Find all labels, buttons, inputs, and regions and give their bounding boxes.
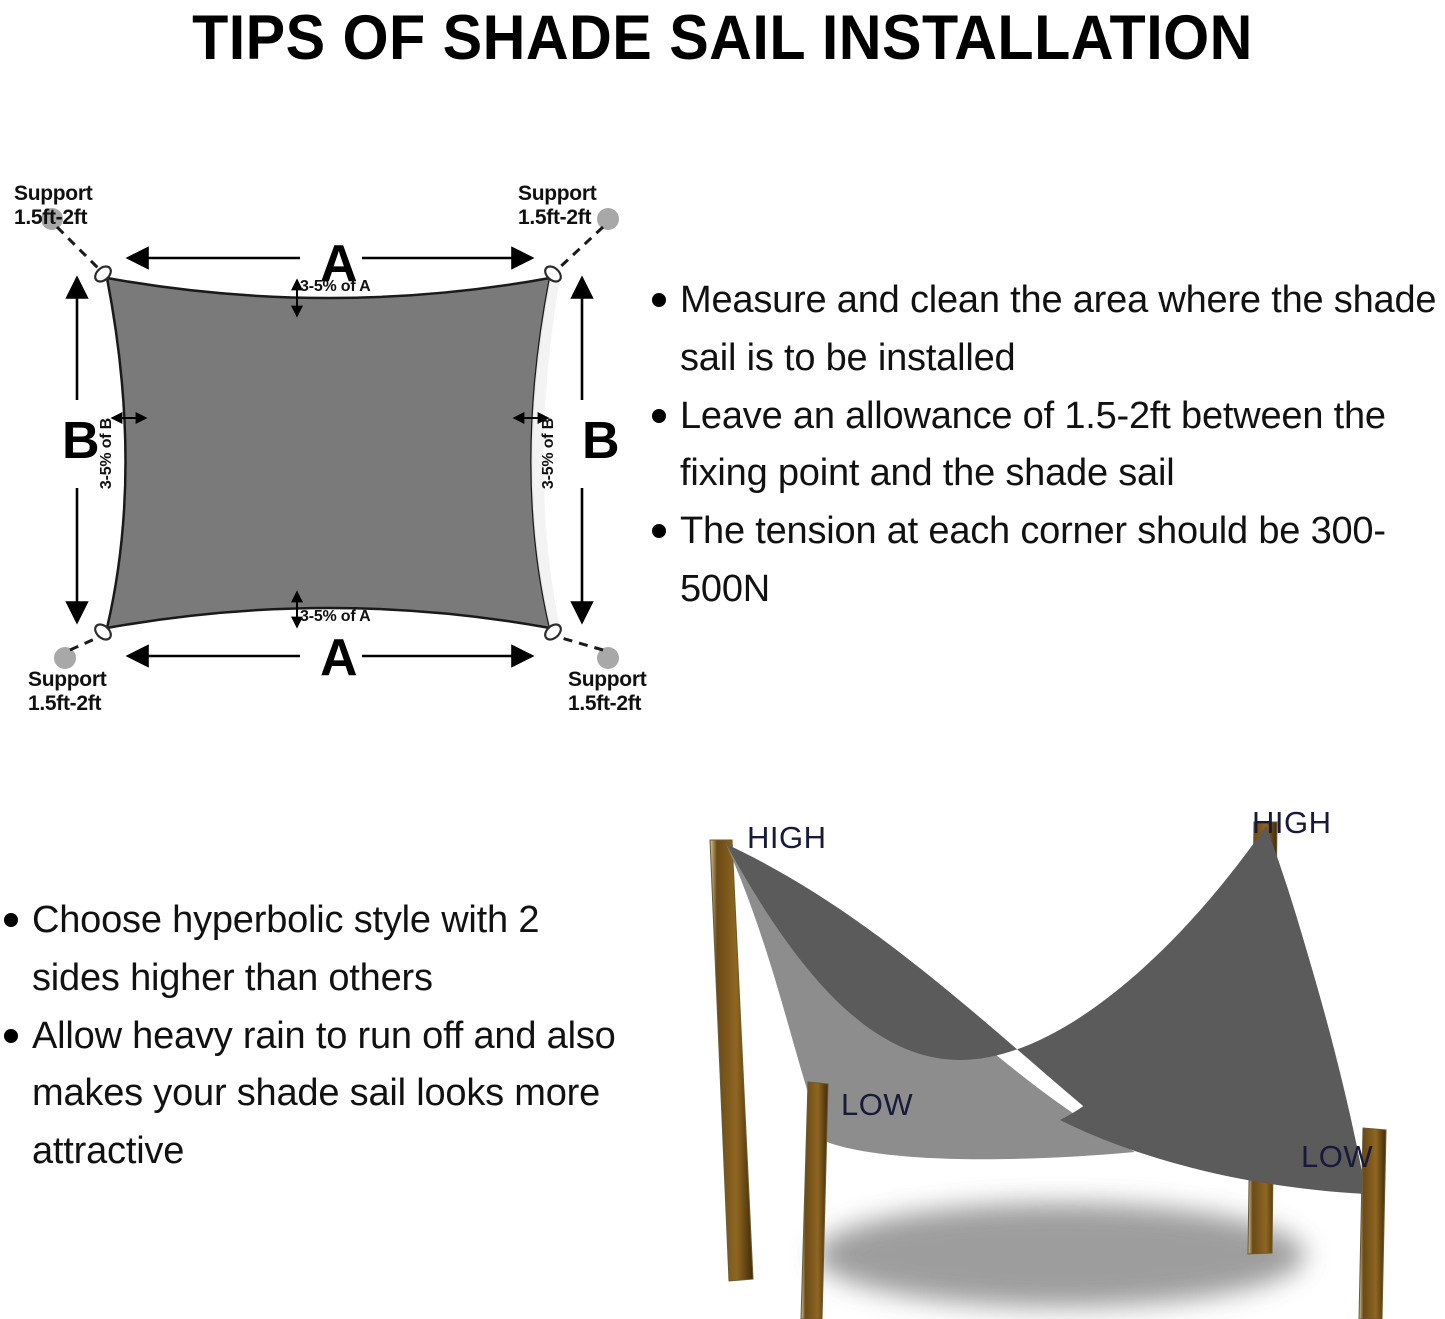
curvature-callout-bottom: 3-5% of A xyxy=(300,608,371,626)
support-label-line2: 1.5ft-2ft xyxy=(28,692,106,716)
bullet-dot-icon xyxy=(4,1029,18,1043)
ground-shadow xyxy=(815,1203,1305,1307)
support-label-line1: Support xyxy=(28,668,106,692)
dimension-label-A-bottom: A xyxy=(316,632,362,684)
label-low-left: LOW xyxy=(841,1087,913,1123)
dimension-label-B-right: B xyxy=(578,415,624,467)
tip-text: Choose hyperbolic style with 2 sides hig… xyxy=(32,892,622,1008)
page-title: TIPS OF SHADE SAIL INSTALLATION xyxy=(43,2,1401,74)
curvature-callout-left: 3-5% of B xyxy=(98,418,116,489)
installation-tips-list-right: Measure and clean the area where the sha… xyxy=(652,272,1445,619)
curvature-callout-top: 3-5% of A xyxy=(300,278,371,296)
list-item: Measure and clean the area where the sha… xyxy=(652,272,1445,388)
infographic-page: TIPS OF SHADE SAIL INSTALLATION xyxy=(0,0,1445,1319)
tip-text: Measure and clean the area where the sha… xyxy=(680,272,1445,388)
bullet-dot-icon xyxy=(652,409,666,423)
support-label-top-right: Support 1.5ft-2ft xyxy=(518,182,596,229)
tip-text: Leave an allowance of 1.5-2ft between th… xyxy=(680,388,1445,504)
post-low-left xyxy=(801,1082,828,1319)
bullet-dot-icon xyxy=(652,293,666,307)
label-high-right: HIGH xyxy=(1252,805,1332,841)
list-item: Choose hyperbolic style with 2 sides hig… xyxy=(4,892,622,1008)
list-item: Leave an allowance of 1.5-2ft between th… xyxy=(652,388,1445,504)
label-high-left: HIGH xyxy=(747,820,827,856)
support-label-top-left: Support 1.5ft-2ft xyxy=(14,182,92,229)
tip-text: The tension at each corner should be 300… xyxy=(680,503,1445,619)
support-label-line1: Support xyxy=(14,182,92,206)
list-item: The tension at each corner should be 300… xyxy=(652,503,1445,619)
sail-shape xyxy=(107,278,550,628)
curvature-callout-right: 3-5% of B xyxy=(540,418,558,489)
installation-tips-list-left: Choose hyperbolic style with 2 sides hig… xyxy=(4,892,622,1181)
support-label-line2: 1.5ft-2ft xyxy=(568,692,646,716)
dimension-label-B-left: B xyxy=(58,415,104,467)
list-item: Allow heavy rain to run off and also mak… xyxy=(4,1008,622,1181)
post-high-left xyxy=(710,840,753,1281)
bullet-dot-icon xyxy=(4,913,18,927)
support-label-line2: 1.5ft-2ft xyxy=(14,206,92,230)
bullet-dot-icon xyxy=(652,524,666,538)
support-label-bottom-right: Support 1.5ft-2ft xyxy=(568,668,646,715)
support-label-line1: Support xyxy=(518,182,596,206)
tip-text: Allow heavy rain to run off and also mak… xyxy=(32,1008,622,1181)
support-label-line2: 1.5ft-2ft xyxy=(518,206,596,230)
label-low-right: LOW xyxy=(1301,1139,1373,1175)
support-label-bottom-left: Support 1.5ft-2ft xyxy=(28,668,106,715)
support-label-line1: Support xyxy=(568,668,646,692)
